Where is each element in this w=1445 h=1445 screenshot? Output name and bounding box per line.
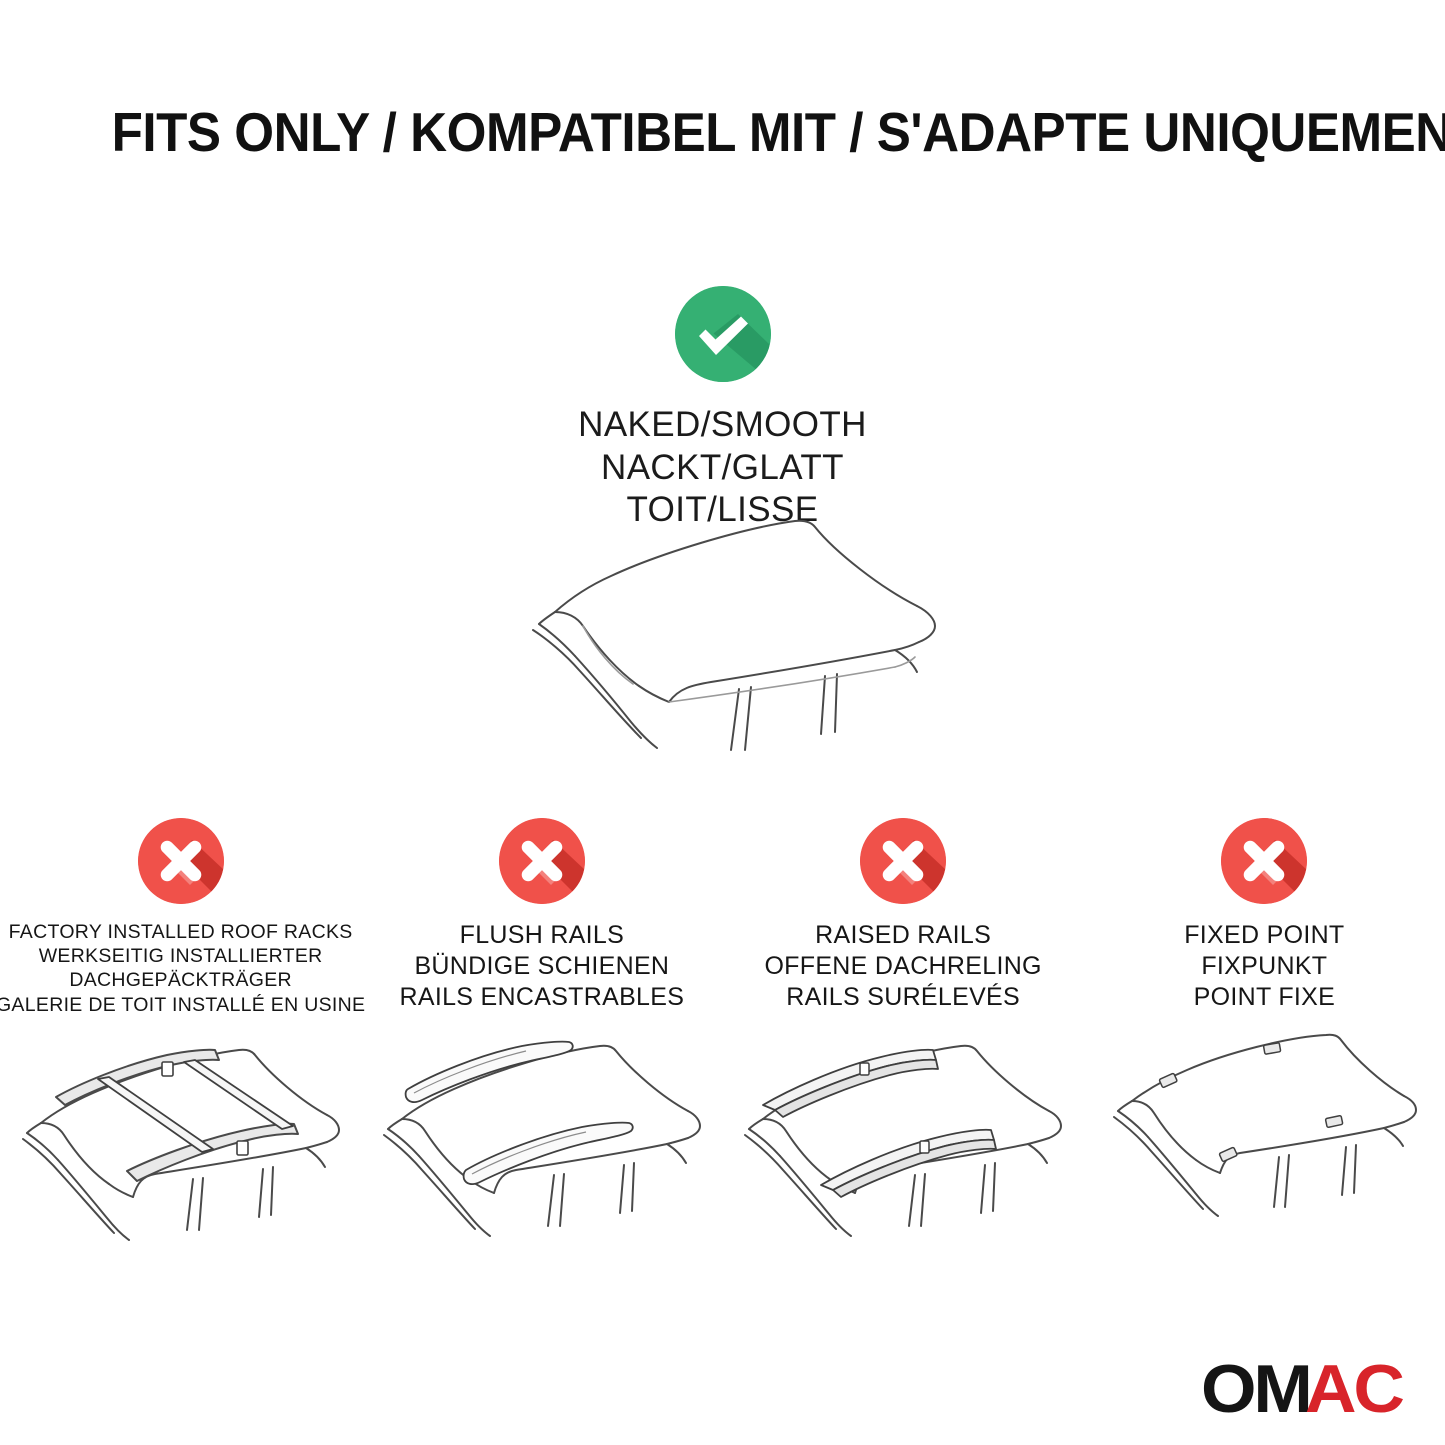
- label-line-3: POINT FIXE: [1184, 982, 1344, 1013]
- label-line-2: WERKSEITIG INSTALLIERTER: [0, 944, 365, 968]
- incompatible-item-fixed-point: FIXED POINT FIXPUNKT POINT FIXE: [1084, 818, 1445, 1262]
- label-line-1: RAISED RAILS: [764, 920, 1041, 951]
- incompatible-label-flush-rails: FLUSH RAILS BÜNDIGE SCHIENEN RAILS ENCAS…: [394, 920, 691, 1013]
- raised-rails-illustration: [723, 1027, 1084, 1262]
- label-line-1: FLUSH RAILS: [400, 920, 685, 951]
- factory-roof-racks-illustration: [0, 1031, 361, 1266]
- check-circle-icon: [675, 286, 771, 382]
- incompatible-label-fixed-point: FIXED POINT FIXPUNKT POINT FIXE: [1178, 920, 1350, 1013]
- omac-logo: OM AC: [1201, 1355, 1397, 1423]
- incompatible-label-factory-roof-racks: FACTORY INSTALLED ROOF RACKS WERKSEITIG …: [0, 920, 371, 1017]
- label-line-1: FIXED POINT: [1184, 920, 1344, 951]
- incompatible-item-raised-rails: RAISED RAILS OFFENE DACHRELING RAILS SUR…: [723, 818, 1084, 1262]
- x-circle-icon: [138, 818, 224, 904]
- page-title: FITS ONLY / KOMPATIBEL MIT / S'ADAPTE UN…: [0, 100, 1445, 164]
- compatible-label-line-2: NACKT/GLATT: [578, 447, 867, 490]
- incompatible-item-flush-rails: FLUSH RAILS BÜNDIGE SCHIENEN RAILS ENCAS…: [361, 818, 722, 1262]
- label-line-3: RAILS SURÉLEVÉS: [764, 982, 1041, 1013]
- omac-logo-dark-part: OM: [1201, 1355, 1310, 1423]
- omac-logo-accent-part: AC: [1305, 1355, 1402, 1423]
- label-line-2: BÜNDIGE SCHIENEN: [400, 951, 685, 982]
- label-line-3: RAILS ENCASTRABLES: [400, 982, 685, 1013]
- infographic-page: FITS ONLY / KOMPATIBEL MIT / S'ADAPTE UN…: [0, 0, 1445, 1445]
- flush-rails-illustration: [361, 1027, 722, 1262]
- label-line-3: DACHGEPÄCKTRÄGER: [0, 968, 365, 992]
- fixed-point-illustration: [1084, 1027, 1445, 1262]
- x-circle-icon: [860, 818, 946, 904]
- label-line-1: FACTORY INSTALLED ROOF RACKS: [0, 920, 365, 944]
- incompatible-section: FACTORY INSTALLED ROOF RACKS WERKSEITIG …: [0, 818, 1445, 1266]
- incompatible-item-factory-roof-racks: FACTORY INSTALLED ROOF RACKS WERKSEITIG …: [0, 818, 361, 1266]
- x-circle-icon: [499, 818, 585, 904]
- compatible-section: NAKED/SMOOTH NACKT/GLATT TOIT/LISSE: [0, 286, 1445, 532]
- compatible-label-line-1: NAKED/SMOOTH: [578, 404, 867, 447]
- naked-smooth-roof-illustration: [443, 500, 1013, 765]
- incompatible-label-raised-rails: RAISED RAILS OFFENE DACHRELING RAILS SUR…: [758, 920, 1047, 1013]
- label-line-2: OFFENE DACHRELING: [764, 951, 1041, 982]
- label-line-4: GALERIE DE TOIT INSTALLÉ EN USINE: [0, 993, 365, 1017]
- x-circle-icon: [1221, 818, 1307, 904]
- label-line-2: FIXPUNKT: [1184, 951, 1344, 982]
- page-title-text: FITS ONLY / KOMPATIBEL MIT / S'ADAPTE UN…: [112, 100, 1445, 164]
